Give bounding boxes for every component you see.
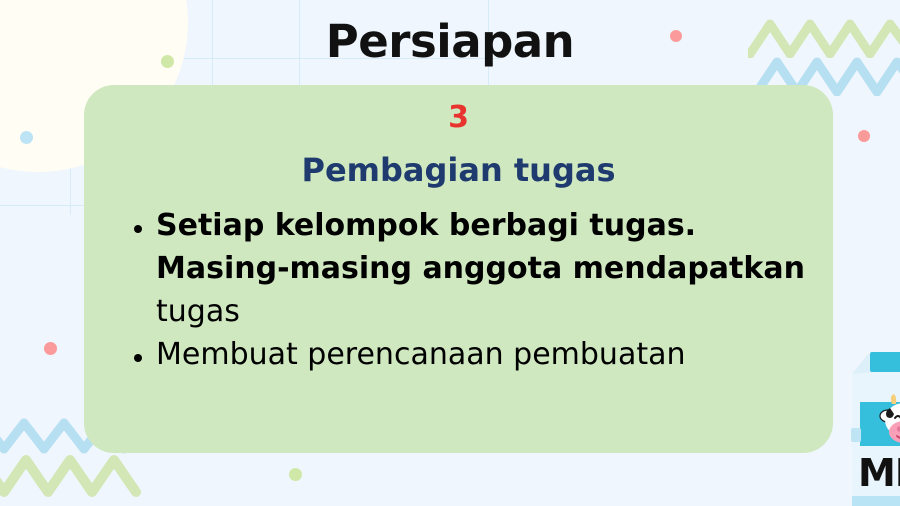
page-title: Persiapan [0,19,900,64]
dot-blue-left [20,131,33,144]
dot-pink-left [44,342,57,355]
dot-green-bottom [289,468,302,481]
content-card: 3 Pembagian tugas Setiap kelompok berbag… [84,85,833,453]
dot-pink-right [858,130,870,142]
list-item: Membuat perencanaan pembuatan [156,334,805,377]
milk-carton-label: MI [858,451,900,495]
step-number: 3 [112,99,805,137]
milk-carton-illustration: MI [848,346,900,506]
bullet-light-text: tugas [156,294,240,329]
grid-line-horizontal [0,205,90,206]
bullet-light-text: Membuat perencanaan pembuatan [156,337,685,372]
list-item: Setiap kelompok berbagi tugas. Masing-ma… [156,205,805,334]
zigzag-green-bottom-left [0,450,180,498]
bullet-list: Setiap kelompok berbagi tugas. Masing-ma… [112,205,805,377]
bullet-bold-text: Setiap kelompok berbagi tugas. Masing-ma… [156,208,805,286]
card-heading: Pembagian tugas [112,151,805,189]
